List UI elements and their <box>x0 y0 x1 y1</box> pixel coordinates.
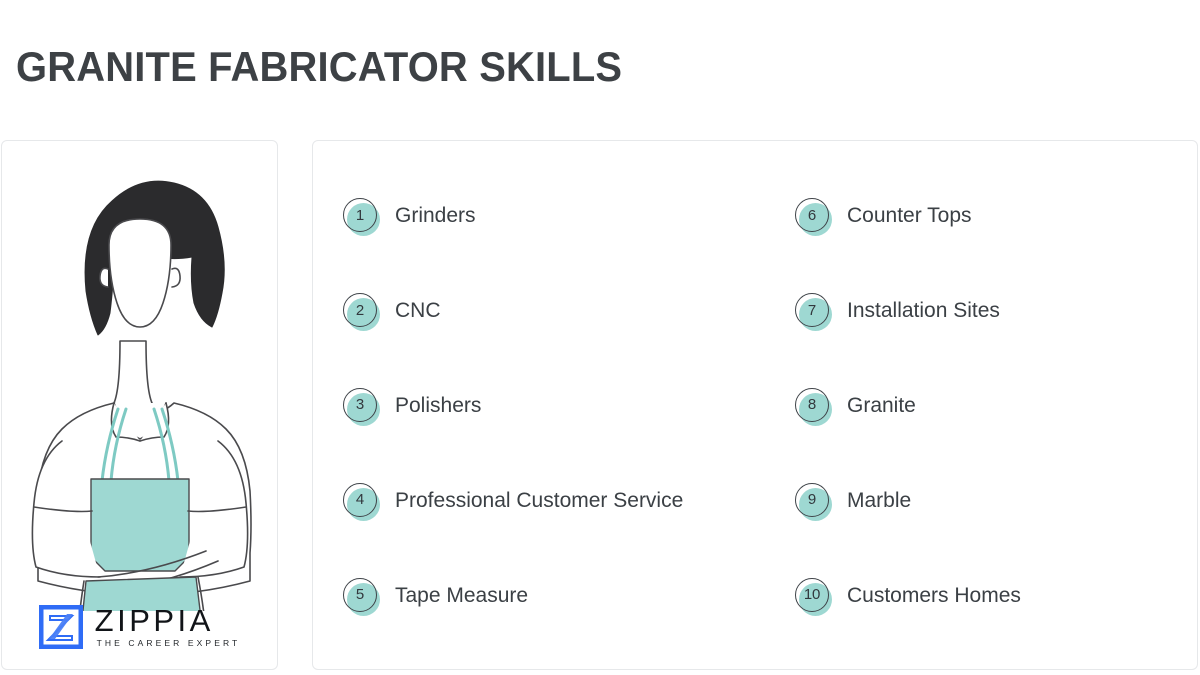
skill-number-badge: 5 <box>339 573 385 619</box>
skill-label: CNC <box>395 298 441 324</box>
skills-panel: 1 Grinders 6 Counter Tops <box>312 140 1198 670</box>
badge-number: 6 <box>808 208 816 223</box>
badge-outline-circle: 10 <box>795 578 829 612</box>
skill-number-badge: 1 <box>339 193 385 239</box>
woman-fabricator-illustration <box>2 141 278 611</box>
skill-label: Counter Tops <box>847 203 972 229</box>
badge-outline-circle: 3 <box>343 388 377 422</box>
skill-label: Tape Measure <box>395 583 528 609</box>
badge-number: 4 <box>356 492 364 507</box>
skill-item-10[interactable]: 10 Customers Homes <box>769 548 1199 643</box>
badge-number: 5 <box>356 587 364 602</box>
skill-number-badge: 10 <box>791 573 837 619</box>
infographic-page: GRANITE FABRICATOR SKILLS <box>0 0 1200 675</box>
illustration-panel: ZIPPIA THE CAREER EXPERT <box>1 140 278 670</box>
skill-label: Granite <box>847 393 916 419</box>
badge-outline-circle: 2 <box>343 293 377 327</box>
skill-label: Marble <box>847 488 911 514</box>
skill-label: Professional Customer Service <box>395 488 683 514</box>
skill-number-badge: 2 <box>339 288 385 334</box>
badge-number: 2 <box>356 303 364 318</box>
skills-grid: 1 Grinders 6 Counter Tops <box>313 141 1199 671</box>
skill-item-7[interactable]: 7 Installation Sites <box>769 264 1199 359</box>
badge-number: 7 <box>808 303 816 318</box>
zippia-logo-text: ZIPPIA THE CAREER EXPERT <box>95 605 241 649</box>
skill-label: Installation Sites <box>847 298 1000 324</box>
skill-number-badge: 3 <box>339 383 385 429</box>
zippia-logo: ZIPPIA THE CAREER EXPERT <box>2 599 277 655</box>
skill-item-8[interactable]: 8 Granite <box>769 359 1199 454</box>
badge-outline-circle: 8 <box>795 388 829 422</box>
skill-item-1[interactable]: 1 Grinders <box>313 169 769 264</box>
page-title: GRANITE FABRICATOR SKILLS <box>16 44 622 90</box>
skill-item-2[interactable]: 2 CNC <box>313 264 769 359</box>
skill-item-3[interactable]: 3 Polishers <box>313 359 769 454</box>
skill-label: Customers Homes <box>847 583 1021 609</box>
skill-number-badge: 8 <box>791 383 837 429</box>
badge-number: 9 <box>808 492 816 507</box>
badge-outline-circle: 7 <box>795 293 829 327</box>
badge-outline-circle: 9 <box>795 483 829 517</box>
badge-number: 8 <box>808 397 816 412</box>
zippia-wordmark: ZIPPIA <box>95 605 214 637</box>
badge-number: 1 <box>356 208 364 223</box>
skill-number-badge: 9 <box>791 478 837 524</box>
skill-label: Grinders <box>395 203 476 229</box>
skill-label: Polishers <box>395 393 481 419</box>
skill-item-4[interactable]: 4 Professional Customer Service <box>313 453 769 548</box>
zippia-z-logo-icon <box>39 605 83 649</box>
skill-number-badge: 6 <box>791 193 837 239</box>
badge-outline-circle: 5 <box>343 578 377 612</box>
skill-item-9[interactable]: 9 Marble <box>769 453 1199 548</box>
skill-item-5[interactable]: 5 Tape Measure <box>313 548 769 643</box>
badge-outline-circle: 4 <box>343 483 377 517</box>
zippia-tagline: THE CAREER EXPERT <box>95 637 241 649</box>
skill-number-badge: 7 <box>791 288 837 334</box>
badge-number: 10 <box>804 587 820 602</box>
skill-item-6[interactable]: 6 Counter Tops <box>769 169 1199 264</box>
skill-number-badge: 4 <box>339 478 385 524</box>
badge-number: 3 <box>356 397 364 412</box>
